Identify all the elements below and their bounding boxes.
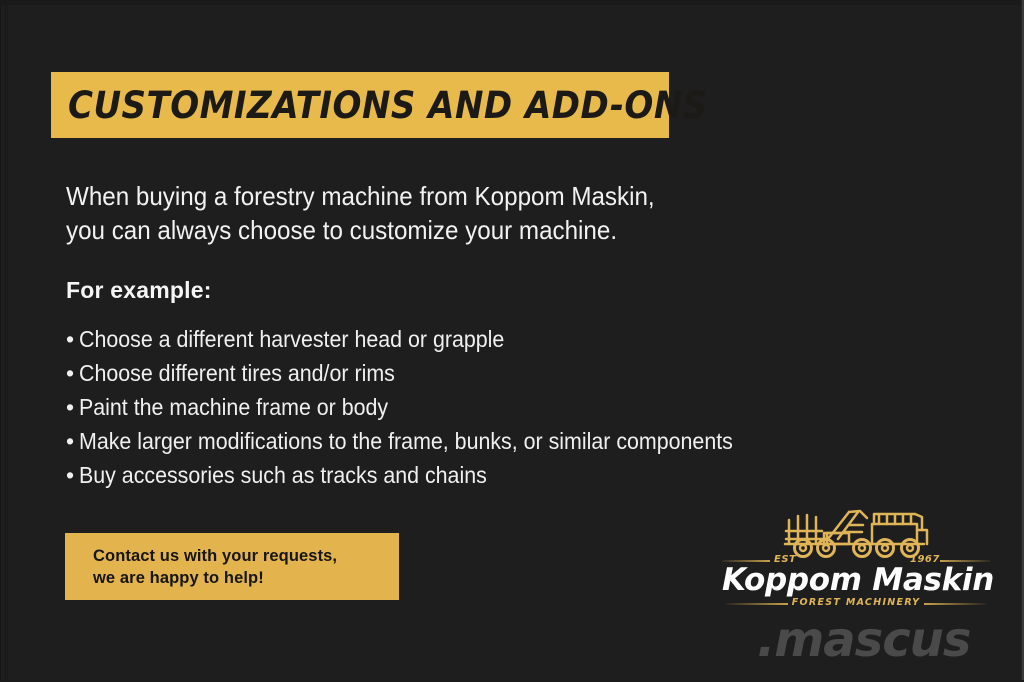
top-edge-line — [0, 0, 1024, 5]
list-item: Choose different tires and/or rims — [66, 356, 866, 390]
list-item: Buy accessories such as tracks and chain… — [66, 458, 866, 492]
mascus-watermark: .mascus — [757, 612, 970, 668]
cta-line-2: we are happy to help! — [93, 567, 399, 589]
list-item-label: Choose different tires and/or rims — [79, 356, 395, 390]
list-item: Make larger modifications to the frame, … — [66, 424, 866, 458]
list-item-label: Choose a different harvester head or gra… — [79, 322, 504, 356]
list-item-label: Make larger modifications to the frame, … — [79, 424, 733, 458]
title-banner: CUSTOMIZATIONS AND ADD-ONS — [51, 72, 669, 138]
logo-wordmark: Koppom Maskin — [722, 564, 990, 596]
cta-line-1: Contact us with your requests, — [93, 545, 399, 567]
logo-tagline-rule-right — [924, 603, 986, 605]
intro-line-2: you can always choose to customize your … — [66, 213, 773, 247]
right-edge-line-2 — [1021, 0, 1022, 682]
intro-paragraph: When buying a forestry machine from Kopp… — [66, 179, 826, 247]
intro-line-1: When buying a forestry machine from Kopp… — [66, 179, 773, 213]
page-title: CUSTOMIZATIONS AND ADD-ONS — [68, 87, 708, 124]
customization-options-list: Choose a different harvester head or gra… — [66, 322, 866, 492]
for-example-label: For example: — [66, 277, 212, 304]
list-item: Paint the machine frame or body — [66, 390, 866, 424]
list-item: Choose a different harvester head or gra… — [66, 322, 866, 356]
logo-tagline-row: FOREST MACHINERY — [722, 597, 990, 609]
left-edge-line-3 — [7, 0, 8, 682]
contact-us-cta[interactable]: Contact us with your requests, we are ha… — [65, 533, 399, 600]
list-item-label: Paint the machine frame or body — [79, 390, 388, 424]
advertisement-slide: CUSTOMIZATIONS AND ADD-ONS When buying a… — [0, 0, 1024, 682]
forwarder-machine-icon — [774, 500, 939, 560]
left-edge-line-1 — [0, 0, 1, 682]
left-edge-line-2 — [5, 0, 6, 682]
list-item-label: Buy accessories such as tracks and chain… — [79, 458, 487, 492]
koppom-maskin-logo: EST 1967 Koppom Maskin FOREST MACHINERY — [722, 500, 990, 608]
